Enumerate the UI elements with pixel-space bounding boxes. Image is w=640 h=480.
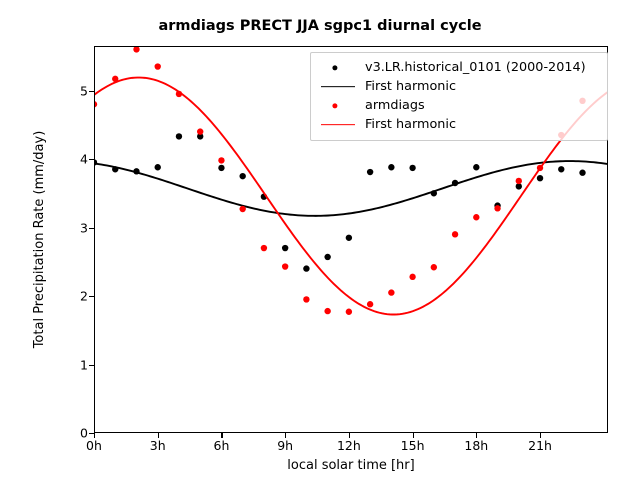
legend-swatch <box>321 86 355 88</box>
x-tick-mark <box>476 433 477 438</box>
y-tick-label: 1 <box>80 357 88 372</box>
legend-swatch <box>332 65 337 70</box>
chart-legend: v3.LR.historical_0101 (2000-2014)First h… <box>310 52 608 141</box>
x-tick-label: 3h <box>150 438 166 453</box>
y-tick-label: 4 <box>80 152 88 167</box>
y-axis-label: Total Precipitation Rate (mm/day) <box>32 46 52 433</box>
x-tick-label: 6h <box>213 438 229 453</box>
legend-swatch <box>332 103 337 108</box>
legend-entry: armdiags <box>319 96 599 115</box>
legend-entry: First harmonic <box>319 115 599 134</box>
x-axis-tick-labels: 0h3h6h9h12h15h18h21h <box>94 438 608 456</box>
x-tick-label: 21h <box>528 438 552 453</box>
x-tick-mark <box>158 433 159 438</box>
legend-entry: v3.LR.historical_0101 (2000-2014) <box>319 58 599 77</box>
x-tick-mark <box>413 433 414 438</box>
legend-label: armdiags <box>359 98 425 113</box>
legend-marker-dot <box>319 96 359 115</box>
x-tick-mark <box>349 433 350 438</box>
legend-label: First harmonic <box>359 117 456 132</box>
x-tick-mark <box>540 433 541 438</box>
chart-title: armdiags PRECT JJA sgpc1 diurnal cycle <box>0 18 640 34</box>
x-tick-label: 9h <box>277 438 293 453</box>
y-tick-label: 2 <box>80 289 88 304</box>
y-tick-label: 3 <box>80 220 88 235</box>
chart-figure: armdiags PRECT JJA sgpc1 diurnal cycle T… <box>0 0 640 480</box>
x-tick-mark <box>285 433 286 438</box>
legend-entry: First harmonic <box>319 77 599 96</box>
legend-marker-dot <box>319 58 359 77</box>
legend-marker-line <box>319 77 359 96</box>
legend-swatch <box>321 124 355 126</box>
x-tick-label: 0h <box>86 438 102 453</box>
y-axis-tick-labels: 012345 <box>62 46 88 433</box>
x-tick-label: 15h <box>401 438 425 453</box>
x-tick-label: 18h <box>464 438 488 453</box>
y-tick-label: 5 <box>80 83 88 98</box>
legend-marker-line <box>319 115 359 134</box>
x-tick-mark <box>221 433 222 438</box>
x-tick-mark <box>94 433 95 438</box>
legend-label: v3.LR.historical_0101 (2000-2014) <box>359 60 586 75</box>
x-axis-label: local solar time [hr] <box>94 458 608 473</box>
x-tick-label: 12h <box>337 438 361 453</box>
legend-label: First harmonic <box>359 79 456 94</box>
